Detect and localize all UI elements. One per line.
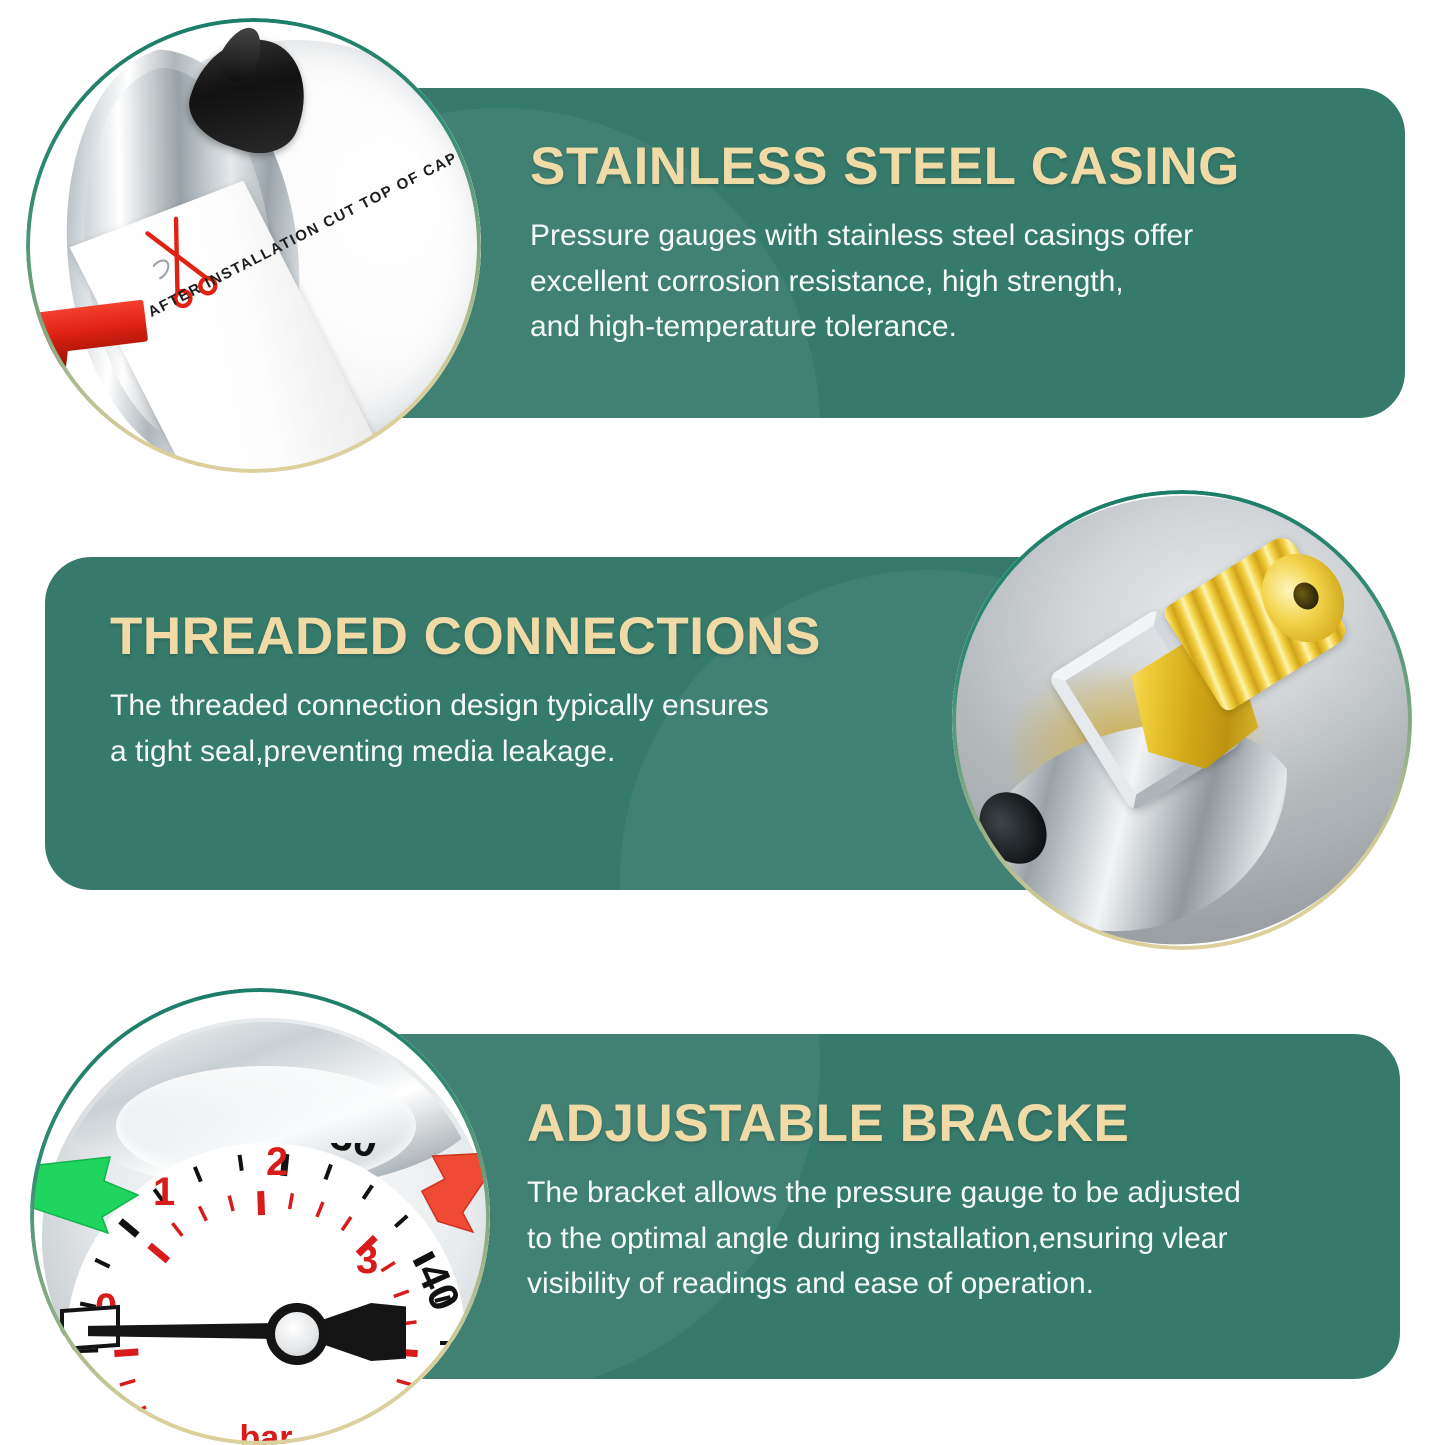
stainless-steel-casing-photo: AFTER INSTALLATION CUT TOP OF CAP	[26, 18, 481, 473]
gauge-needle-hub	[266, 1303, 328, 1365]
photo-gauge-dial: 20 30 40 0 1 2 3 bar 100kPa	[30, 988, 490, 1445]
feature-body-line: to the optimal angle during installation…	[527, 1216, 1337, 1262]
red-pull-tab-fold	[36, 336, 70, 370]
feature-copy-adjustable-bracket: ADJUSTABLE BRACKE The bracket allows the…	[527, 1095, 1337, 1307]
feature-copy-threaded-connections: THREADED CONNECTIONS The threaded connec…	[110, 608, 900, 774]
inner-scale-label-3: 3	[356, 1238, 378, 1282]
feature-body-line: The bracket allows the pressure gauge to…	[527, 1170, 1337, 1216]
gauge-unit-bar: bar	[166, 1419, 366, 1445]
inner-scale-label-1: 1	[153, 1170, 175, 1214]
feature-body-line: Pressure gauges with stainless steel cas…	[530, 213, 1330, 259]
feature-body: The threaded connection design typically…	[110, 683, 900, 774]
outer-scale-label-30: 30	[326, 1143, 383, 1167]
infographic-canvas: STAINLESS STEEL CASING Pressure gauges w…	[0, 0, 1445, 1445]
outer-scale-label-20: 20	[158, 1143, 217, 1147]
inner-scale-ticks	[114, 1191, 417, 1414]
feature-body-line: excellent corrosion resistance, high str…	[530, 259, 1330, 305]
threaded-connection-photo	[952, 490, 1412, 950]
feature-body: Pressure gauges with stainless steel cas…	[530, 213, 1330, 350]
adjustable-bracket-photo: 20 30 40 0 1 2 3 bar 100kPa	[30, 988, 490, 1445]
feature-headline: ADJUSTABLE BRACKE	[527, 1095, 1337, 1152]
red-adjust-arrow	[417, 1138, 490, 1234]
feature-body: The bracket allows the pressure gauge to…	[527, 1170, 1337, 1307]
inner-scale-label-2: 2	[266, 1143, 288, 1184]
photo-threaded-connection	[952, 490, 1412, 950]
feature-headline: THREADED CONNECTIONS	[110, 608, 900, 665]
feature-copy-stainless-steel-casing: STAINLESS STEEL CASING Pressure gauges w…	[530, 138, 1330, 350]
feature-body-line: and high-temperature tolerance.	[530, 304, 1330, 350]
feature-body-line: The threaded connection design typically…	[110, 683, 900, 729]
feature-headline: STAINLESS STEEL CASING	[530, 138, 1330, 195]
feature-body-line: visibility of readings and ease of opera…	[527, 1261, 1337, 1307]
feature-body-line: a tight seal,preventing media leakage.	[110, 729, 900, 775]
photo-stainless-casing: AFTER INSTALLATION CUT TOP OF CAP	[26, 18, 481, 473]
green-adjust-arrow	[30, 1151, 148, 1235]
